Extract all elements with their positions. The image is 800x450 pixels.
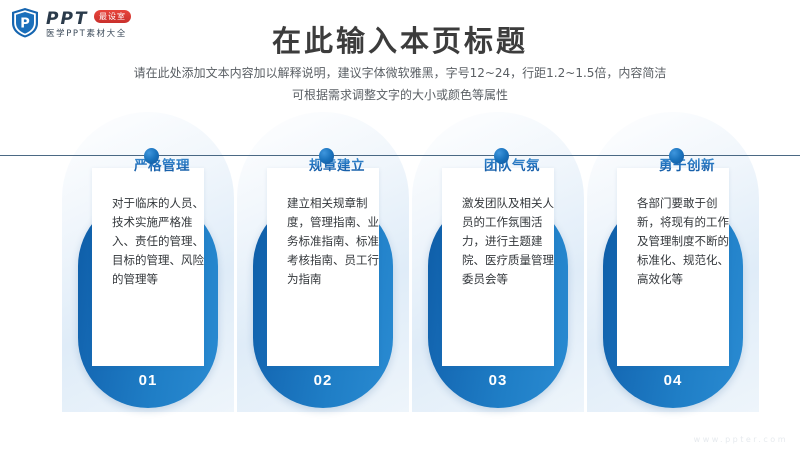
logo-tagline: 医学PPT素材大全 bbox=[46, 27, 127, 39]
card-panel-4: 勇于创新 各部门要敢于创新，将现有的工作及管理制度不断的标准化、规范化、高效化等 bbox=[617, 168, 729, 366]
card-title-4: 勇于创新 bbox=[617, 154, 757, 174]
card-body-4: 各部门要敢于创新，将现有的工作及管理制度不断的标准化、规范化、高效化等 bbox=[637, 194, 737, 289]
page-subtitle-line-1: 请在此处添加文本内容加以解释说明，建议字体微软雅黑，字号12~24，行距1.2~… bbox=[100, 62, 700, 84]
card-panel-1: 严格管理 对于临床的人员、技术实施严格准入、责任的管理、目标的管理、风险的管理等 bbox=[92, 168, 204, 366]
card-number-2: 02 bbox=[253, 372, 393, 389]
timeline-dot-1 bbox=[144, 148, 159, 164]
card-item-3[interactable]: 团队气氛 激发团队及相关人员的工作氛围活力，进行主题建院、医疗质量管理委员会等 … bbox=[428, 196, 568, 408]
card-item-2[interactable]: 规章建立 建立相关规章制度，管理指南、业务标准指南、标准考核指南、员工行为指南 … bbox=[253, 196, 393, 408]
card-panel-2: 规章建立 建立相关规章制度，管理指南、业务标准指南、标准考核指南、员工行为指南 bbox=[267, 168, 379, 366]
logo-badge: 最设室 bbox=[94, 10, 131, 23]
logo-wordmark: PPT bbox=[46, 9, 89, 29]
timeline-dot-4 bbox=[669, 148, 684, 164]
card-number-3: 03 bbox=[428, 372, 568, 389]
card-body-3: 激发团队及相关人员的工作氛围活力，进行主题建院、医疗质量管理委员会等 bbox=[462, 194, 562, 289]
brand-logo[interactable]: P PPT 最设室 医学PPT素材大全 bbox=[10, 7, 150, 39]
card-number-4: 04 bbox=[603, 372, 743, 389]
page-subtitle: 请在此处添加文本内容加以解释说明，建议字体微软雅黑，字号12~24，行距1.2~… bbox=[100, 62, 700, 106]
site-watermark: www.ppter.com bbox=[694, 435, 788, 444]
card-body-1: 对于临床的人员、技术实施严格准入、责任的管理、目标的管理、风险的管理等 bbox=[112, 194, 212, 289]
card-title-1: 严格管理 bbox=[92, 154, 232, 174]
slide-canvas: P PPT 最设室 医学PPT素材大全 在此输入本页标题 请在此处添加文本内容加… bbox=[0, 0, 800, 450]
card-title-3: 团队气氛 bbox=[442, 154, 582, 174]
card-title-2: 规章建立 bbox=[267, 154, 407, 174]
svg-text:P: P bbox=[20, 17, 30, 32]
page-subtitle-line-2: 可根据需求调整文字的大小或颜色等属性 bbox=[100, 84, 700, 106]
card-item-4[interactable]: 勇于创新 各部门要敢于创新，将现有的工作及管理制度不断的标准化、规范化、高效化等… bbox=[603, 196, 743, 408]
timeline-dot-2 bbox=[319, 148, 334, 164]
card-body-2: 建立相关规章制度，管理指南、业务标准指南、标准考核指南、员工行为指南 bbox=[287, 194, 387, 289]
timeline-dot-3 bbox=[494, 148, 509, 164]
card-panel-3: 团队气氛 激发团队及相关人员的工作氛围活力，进行主题建院、医疗质量管理委员会等 bbox=[442, 168, 554, 366]
shield-p-icon: P bbox=[10, 7, 40, 38]
card-number-1: 01 bbox=[78, 372, 218, 389]
card-item-1[interactable]: 严格管理 对于临床的人员、技术实施严格准入、责任的管理、目标的管理、风险的管理等… bbox=[78, 196, 218, 408]
